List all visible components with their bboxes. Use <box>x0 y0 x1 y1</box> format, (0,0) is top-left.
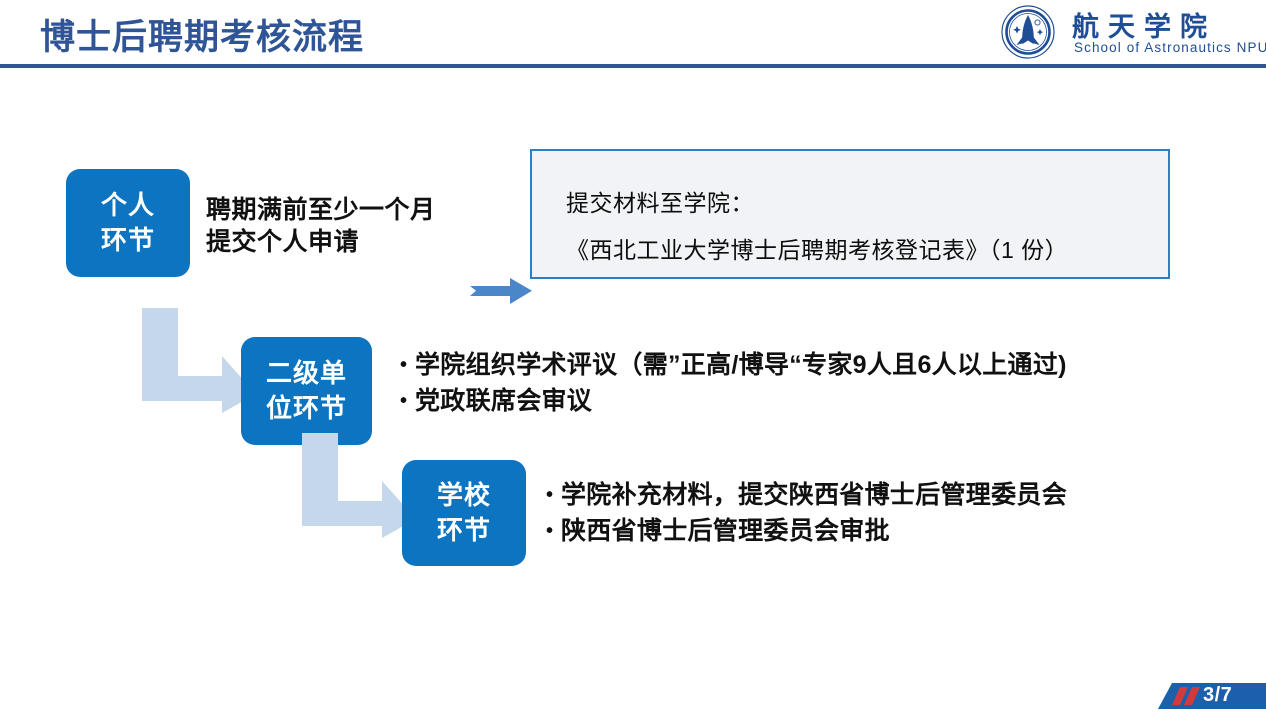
stage-box-school-line-1: 学校 <box>437 478 491 513</box>
materials-note-line-2: 《西北工业大学博士后聘期考核登记表》（1 份） <box>566 231 1068 265</box>
personal-stage-note-line-1: 聘期满前至少一个月 <box>206 194 436 226</box>
school-stage-bullet-1: 学院补充材料，提交陕西省博士后管理委员会 <box>546 478 1067 514</box>
astronautics-seal-icon <box>1000 4 1056 60</box>
logo-name-cn: 航天学院 <box>1072 5 1216 44</box>
personal-stage-note-line-2: 提交个人申请 <box>206 226 436 258</box>
bent-arrow-icon-1 <box>138 308 256 413</box>
stage-box-school-line-2: 环节 <box>437 513 491 548</box>
personal-stage-note: 聘期满前至少一个月 提交个人申请 <box>206 194 436 258</box>
bent-arrow-icon-2 <box>298 433 416 538</box>
stage-box-personal[interactable]: 个人 环节 <box>66 169 190 277</box>
stage-box-unit[interactable]: 二级单 位环节 <box>241 337 372 445</box>
stage-box-personal-line-2: 环节 <box>101 223 155 258</box>
unit-stage-bullets: 学院组织学术评议（需”正高/博导“专家9人且6人以上通过) 党政联席会审议 <box>400 348 1067 419</box>
right-arrow-icon <box>470 277 532 305</box>
materials-note-line-1: 提交材料至学院： <box>566 184 754 218</box>
stage-box-school[interactable]: 学校 环节 <box>402 460 526 566</box>
school-stage-bullet-2: 陕西省博士后管理委员会审批 <box>546 514 1067 550</box>
page-title: 博士后聘期考核流程 <box>40 9 364 60</box>
unit-stage-bullet-2: 党政联席会审议 <box>400 384 1067 420</box>
materials-note-box: 提交材料至学院： 《西北工业大学博士后聘期考核登记表》（1 份） <box>530 149 1170 279</box>
stage-box-unit-line-2: 位环节 <box>266 391 347 426</box>
logo: 航天学院 School of Astronautics NPU <box>988 2 1260 62</box>
stage-box-personal-line-1: 个人 <box>101 188 155 223</box>
page-number-text: 3/7 <box>1203 684 1232 707</box>
process-flow-diagram: 个人 环节 聘期满前至少一个月 提交个人申请 提交材料至学院： 《西北工业大学博… <box>0 68 1266 713</box>
school-stage-bullets: 学院补充材料，提交陕西省博士后管理委员会 陕西省博士后管理委员会审批 <box>546 478 1067 549</box>
unit-stage-bullet-1: 学院组织学术评议（需”正高/博导“专家9人且6人以上通过) <box>400 348 1067 384</box>
stage-box-unit-line-1: 二级单 <box>266 356 347 391</box>
logo-name-en: School of Astronautics NPU <box>1074 40 1266 55</box>
